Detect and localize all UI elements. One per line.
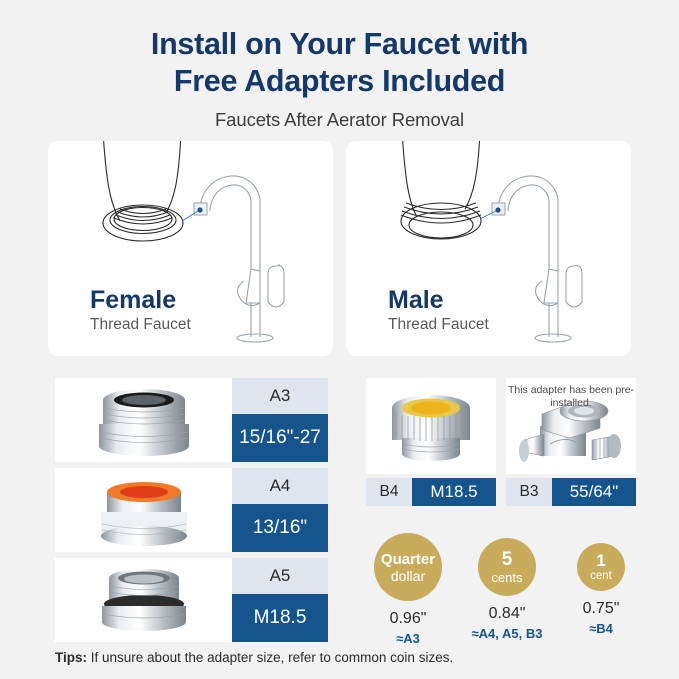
table-row: A4 13/16" — [55, 468, 328, 552]
coin-diameter: 0.75" — [583, 600, 620, 618]
tips-text: If unsure about the adapter size, refer … — [87, 650, 453, 665]
tips-line: Tips: If unsure about the adapter size, … — [55, 650, 453, 665]
adapter-size-badge: 13/16" — [232, 504, 328, 552]
adapter-code: B3 — [506, 478, 552, 506]
adapter-a4-illustration — [55, 468, 232, 552]
coin-name-bottom: cent — [590, 571, 612, 583]
adapter-photo-a3 — [55, 378, 232, 462]
coin-quarter: Quarter dollar 0.96" ≈A3 — [366, 533, 450, 646]
coin-circle-icon: Quarter dollar — [374, 533, 442, 601]
coin-diameter: 0.96" — [390, 610, 427, 628]
table-row: A3 15/16"-27 — [55, 378, 328, 462]
adapter-size-badge: 15/16"-27 — [232, 414, 328, 462]
coin-name-bottom: cents — [491, 571, 522, 584]
coin-name-bottom: dollar — [391, 569, 425, 583]
faucet-name: Male — [388, 286, 489, 314]
adapter-labels-a4: A4 13/16" — [232, 468, 328, 552]
faucet-name: Female — [90, 286, 191, 314]
preinstalled-adapter-cards: B4 M18.5 — [366, 378, 636, 506]
coin-adapter-ref: ≈A3 — [396, 631, 420, 646]
adapter-b4-illustration — [366, 378, 496, 474]
adapter-card-b3: This adapter has been pre-installed. B3 … — [506, 378, 636, 506]
adapter-labels-b3: B3 55/64" — [506, 478, 636, 506]
title-line-2: Free Adapters Included — [0, 63, 679, 100]
faucet-subtitle: Thread Faucet — [90, 316, 191, 334]
adapter-size-badge: M18.5 — [412, 478, 496, 506]
tips-label: Tips: — [55, 650, 87, 665]
coin-nickel: 5 cents 0.84" ≈A4, A5, B3 — [455, 533, 559, 641]
coin-name-top: 1 — [596, 552, 605, 569]
adapter-code: A5 — [232, 558, 328, 594]
coin-name-top: 5 — [502, 550, 513, 569]
infographic-page: Install on Your Faucet with Free Adapter… — [0, 0, 679, 679]
coin-circle-icon: 1 cent — [577, 543, 625, 591]
faucet-card-female: Female Thread Faucet — [48, 141, 333, 356]
coin-name-top: Quarter — [381, 552, 435, 567]
faucet-subtitle: Thread Faucet — [388, 316, 489, 334]
adapter-labels-a3: A3 15/16"-27 — [232, 378, 328, 462]
table-row: A5 M18.5 — [55, 558, 328, 642]
faucet-label-male: Male Thread Faucet — [388, 286, 489, 334]
adapter-labels-a5: A5 M18.5 — [232, 558, 328, 642]
adapter-size-badge: 55/64" — [552, 478, 636, 506]
faucet-card-male: Male Thread Faucet — [346, 141, 631, 356]
adapter-photo-b4 — [366, 378, 496, 474]
adapter-labels-b4: B4 M18.5 — [366, 478, 496, 506]
adapter-size-badge: M18.5 — [232, 594, 328, 642]
page-title: Install on Your Faucet with Free Adapter… — [0, 26, 679, 100]
coin-adapter-ref: ≈B4 — [589, 621, 613, 636]
adapter-photo-b3: This adapter has been pre-installed. — [506, 378, 636, 474]
adapter-a5-illustration — [55, 558, 232, 642]
title-line-1: Install on Your Faucet with — [0, 26, 679, 63]
adapter-code: B4 — [366, 478, 412, 506]
adapter-code: A4 — [232, 468, 328, 504]
coin-penny: 1 cent 0.75" ≈B4 — [564, 533, 638, 636]
coin-circle-icon: 5 cents — [478, 538, 536, 596]
adapter-photo-a5 — [55, 558, 232, 642]
faucet-type-cards: Female Thread Faucet — [48, 141, 631, 356]
header: Install on Your Faucet with Free Adapter… — [0, 0, 679, 131]
coin-size-reference: Quarter dollar 0.96" ≈A3 5 cents 0.84" ≈… — [366, 533, 638, 646]
adapter-photo-a4 — [55, 468, 232, 552]
faucet-label-female: Female Thread Faucet — [90, 286, 191, 334]
adapter-size-table: A3 15/16"-27 — [55, 378, 328, 648]
coin-diameter: 0.84" — [489, 605, 526, 623]
adapter-card-b4: B4 M18.5 — [366, 378, 496, 506]
preinstalled-note: This adapter has been pre-installed. — [506, 384, 636, 409]
adapter-a3-illustration — [55, 378, 232, 462]
coin-adapter-ref: ≈A4, A5, B3 — [472, 626, 543, 641]
page-subtitle: Faucets After Aerator Removal — [0, 109, 679, 131]
adapter-code: A3 — [232, 378, 328, 414]
